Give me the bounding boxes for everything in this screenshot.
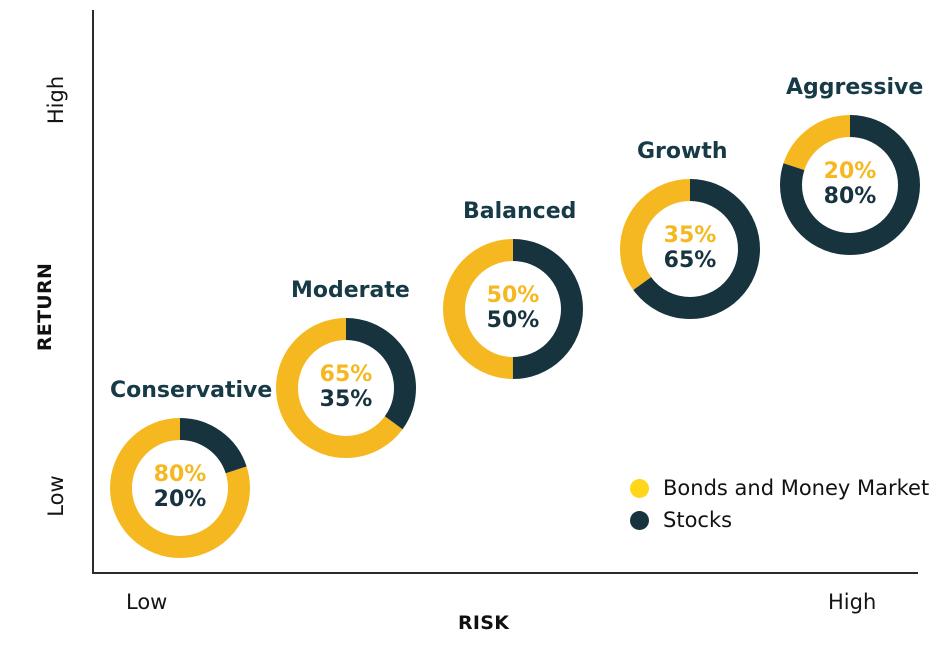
legend-label-bonds: Bonds and Money Market	[663, 476, 929, 500]
donut-chart-balanced: 50% 50%	[443, 239, 583, 379]
donut-chart-aggressive: 20% 80%	[780, 115, 920, 255]
y-axis-line	[92, 10, 94, 574]
x-axis-tick-low: Low	[126, 590, 167, 614]
donut-label-moderate: Moderate	[291, 278, 410, 303]
donut-svg-growth	[620, 179, 760, 319]
donut-chart-moderate: 65% 35%	[276, 318, 416, 458]
x-axis-title: RISK	[458, 612, 509, 634]
legend: Bonds and Money Market Stocks	[630, 472, 929, 536]
donut-svg-moderate	[276, 318, 416, 458]
donut-label-growth: Growth	[637, 139, 728, 164]
y-axis-tick-low: Low	[44, 466, 68, 526]
risk-return-donut-chart: High Low RETURN Low High RISK Conservati…	[0, 0, 936, 652]
legend-color-swatch-bonds-icon	[630, 479, 649, 498]
donut-svg-balanced	[443, 239, 583, 379]
legend-color-swatch-stocks-icon	[630, 511, 649, 530]
donut-label-conservative: Conservative	[110, 378, 272, 403]
legend-item-stocks: Stocks	[630, 504, 929, 536]
donut-label-balanced: Balanced	[463, 199, 576, 224]
y-axis-tick-high: High	[44, 70, 68, 130]
x-axis-line	[92, 572, 918, 574]
donut-chart-conservative: 80% 20%	[110, 418, 250, 558]
donut-svg-conservative	[110, 418, 250, 558]
donut-svg-aggressive	[780, 115, 920, 255]
donut-label-aggressive: Aggressive	[786, 75, 923, 100]
y-axis-title: RETURN	[34, 259, 56, 355]
legend-item-bonds: Bonds and Money Market	[630, 472, 929, 504]
legend-label-stocks: Stocks	[663, 508, 732, 532]
x-axis-tick-high: High	[828, 590, 876, 614]
donut-chart-growth: 35% 65%	[620, 179, 760, 319]
